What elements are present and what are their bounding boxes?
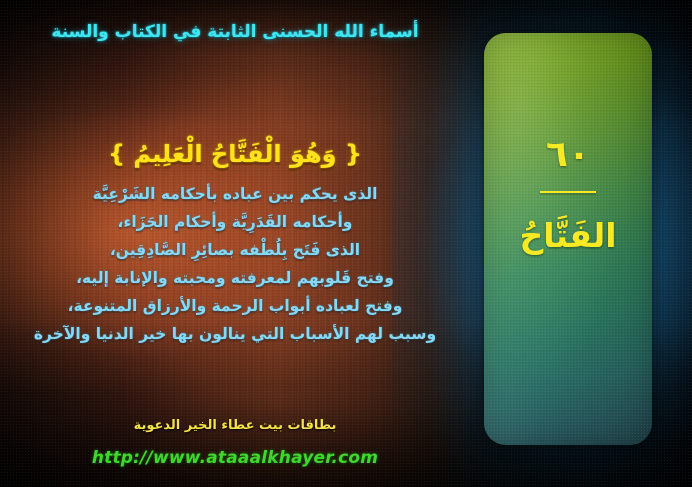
footer-url[interactable]: http://www.ataaalkhayer.com <box>0 448 470 468</box>
verse-line: وسبب لهم الأسباب التي ينالون بها خير الد… <box>6 320 464 348</box>
name-divider <box>540 191 596 193</box>
verse-description: الذى يحكم بين عباده بأحكامه الشَرْعِيَّة… <box>0 180 470 348</box>
name-panel-content: ٦٠ الفَتَّاحُ <box>484 33 652 445</box>
footer-credit: بطاقات بيت عطاء الخير الدعوية <box>0 418 470 433</box>
name-panel: ٦٠ الفَتَّاحُ <box>484 33 652 445</box>
verse-line: الذى فَتَح بِلُطْفه بصائِرِ الصَّادِقِين… <box>6 236 464 264</box>
name-number: ٦٠ <box>546 137 590 173</box>
verse-line: الذى يحكم بين عباده بأحكامه الشَرْعِيَّة <box>6 180 464 208</box>
verse-line: وأحكامه القَدَرِيَّة وأحكام الجَزَاء، <box>6 208 464 236</box>
verse-line: وفتح لعباده أبواب الرحمة والأرزاق المتنو… <box>6 292 464 320</box>
name-word: الفَتَّاحُ <box>519 215 616 256</box>
name-of-allah-card: أسماء الله الحسنى الثابتة في الكتاب والس… <box>0 0 692 487</box>
verse-line: وفتح قَلوبهم لمعرفته ومحبته والإنابة إلي… <box>6 264 464 292</box>
verse-title: { وَهُوَ الْفَتَّاحُ الْعَلِيمُ } <box>0 140 470 168</box>
header-title: أسماء الله الحسنى الثابتة في الكتاب والس… <box>0 22 470 42</box>
